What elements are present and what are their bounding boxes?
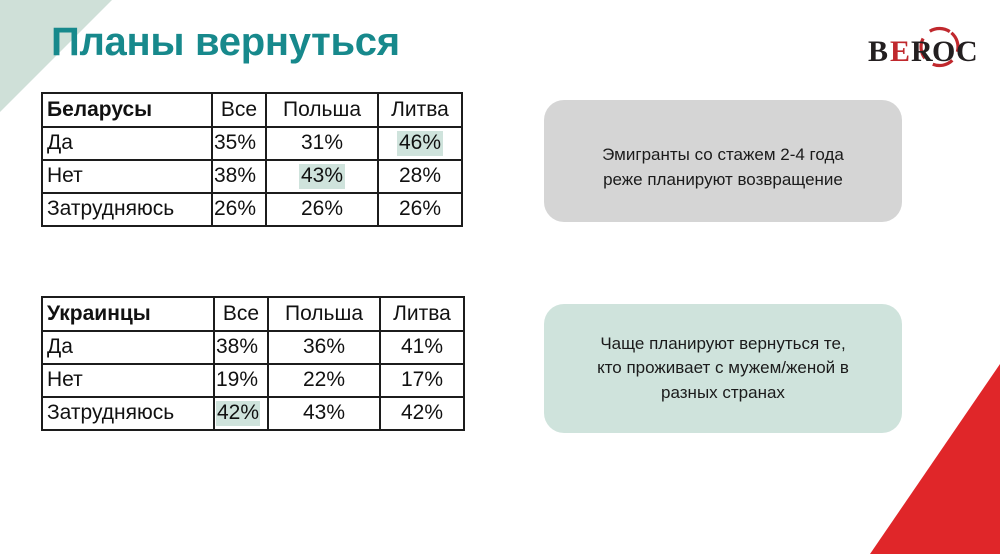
row-label-unsure: Затрудняюсь	[42, 193, 212, 226]
cell-no-lithuania: 28%	[378, 160, 462, 193]
cell-yes-all: 35%	[212, 127, 266, 160]
highlight-value: 46%	[397, 131, 443, 155]
cell-unsure-lithuania: 26%	[378, 193, 462, 226]
beroc-logo: B E R O C	[866, 26, 976, 70]
logo-letter-r: R	[911, 35, 933, 68]
slide-canvas: Планы вернуться B E R O C Беларусы Все П…	[0, 0, 1000, 554]
table-header-lithuania: Литва	[380, 297, 464, 331]
table-header-row: Беларусы Все Польша Литва	[42, 93, 462, 127]
table-header-poland: Польша	[268, 297, 380, 331]
cell-yes-lithuania: 46%	[378, 127, 462, 160]
callout-text: Эмигранты со стажем 2-4 года реже планир…	[602, 143, 844, 192]
cell-yes-all: 38%	[214, 331, 268, 364]
table-row: Да 35% 31% 46%	[42, 127, 462, 160]
table-row: Нет 38% 43% 28%	[42, 160, 462, 193]
cell-unsure-poland: 26%	[266, 193, 378, 226]
cell-unsure-poland: 43%	[268, 397, 380, 430]
row-label-yes: Да	[42, 331, 214, 364]
callout-text: Чаще планируют вернуться те, кто прожива…	[597, 332, 849, 406]
row-label-no: Нет	[42, 364, 214, 397]
row-label-unsure: Затрудняюсь	[42, 397, 214, 430]
page-title: Планы вернуться	[51, 20, 400, 64]
cell-unsure-lithuania: 42%	[380, 397, 464, 430]
callout-box-spouse: Чаще планируют вернуться те, кто прожива…	[544, 304, 902, 433]
highlight-value: 42%	[216, 401, 260, 425]
table-row: Да 38% 36% 41%	[42, 331, 464, 364]
cell-unsure-all: 26%	[212, 193, 266, 226]
cell-no-poland: 22%	[268, 364, 380, 397]
cell-no-all: 19%	[214, 364, 268, 397]
table-header-group: Украинцы	[42, 297, 214, 331]
logo-letter-o: O	[932, 35, 955, 68]
table-row: Нет 19% 22% 17%	[42, 364, 464, 397]
table-row: Затрудняюсь 42% 43% 42%	[42, 397, 464, 430]
table-row: Затрудняюсь 26% 26% 26%	[42, 193, 462, 226]
cell-no-lithuania: 17%	[380, 364, 464, 397]
highlight-value: 43%	[299, 164, 345, 188]
table-header-row: Украинцы Все Польша Литва	[42, 297, 464, 331]
cell-unsure-all: 42%	[214, 397, 268, 430]
logo-letter-e: E	[890, 35, 910, 68]
row-label-yes: Да	[42, 127, 212, 160]
table-header-all: Все	[212, 93, 266, 127]
cell-no-poland: 43%	[266, 160, 378, 193]
table-header-lithuania: Литва	[378, 93, 462, 127]
callout-box-emigrants: Эмигранты со стажем 2-4 года реже планир…	[544, 100, 902, 222]
table-header-poland: Польша	[266, 93, 378, 127]
logo-letter-c: C	[956, 35, 976, 68]
cell-no-all: 38%	[212, 160, 266, 193]
row-label-no: Нет	[42, 160, 212, 193]
beroc-logo-mark: B E R O C	[866, 26, 976, 70]
cell-yes-lithuania: 41%	[380, 331, 464, 364]
table-belarusians: Беларусы Все Польша Литва Да 35% 31% 46%…	[41, 92, 463, 227]
table-header-all: Все	[214, 297, 268, 331]
table-header-group: Беларусы	[42, 93, 212, 127]
cell-yes-poland: 36%	[268, 331, 380, 364]
table-ukrainians: Украинцы Все Польша Литва Да 38% 36% 41%…	[41, 296, 465, 431]
cell-yes-poland: 31%	[266, 127, 378, 160]
logo-letter-b: B	[868, 35, 888, 68]
